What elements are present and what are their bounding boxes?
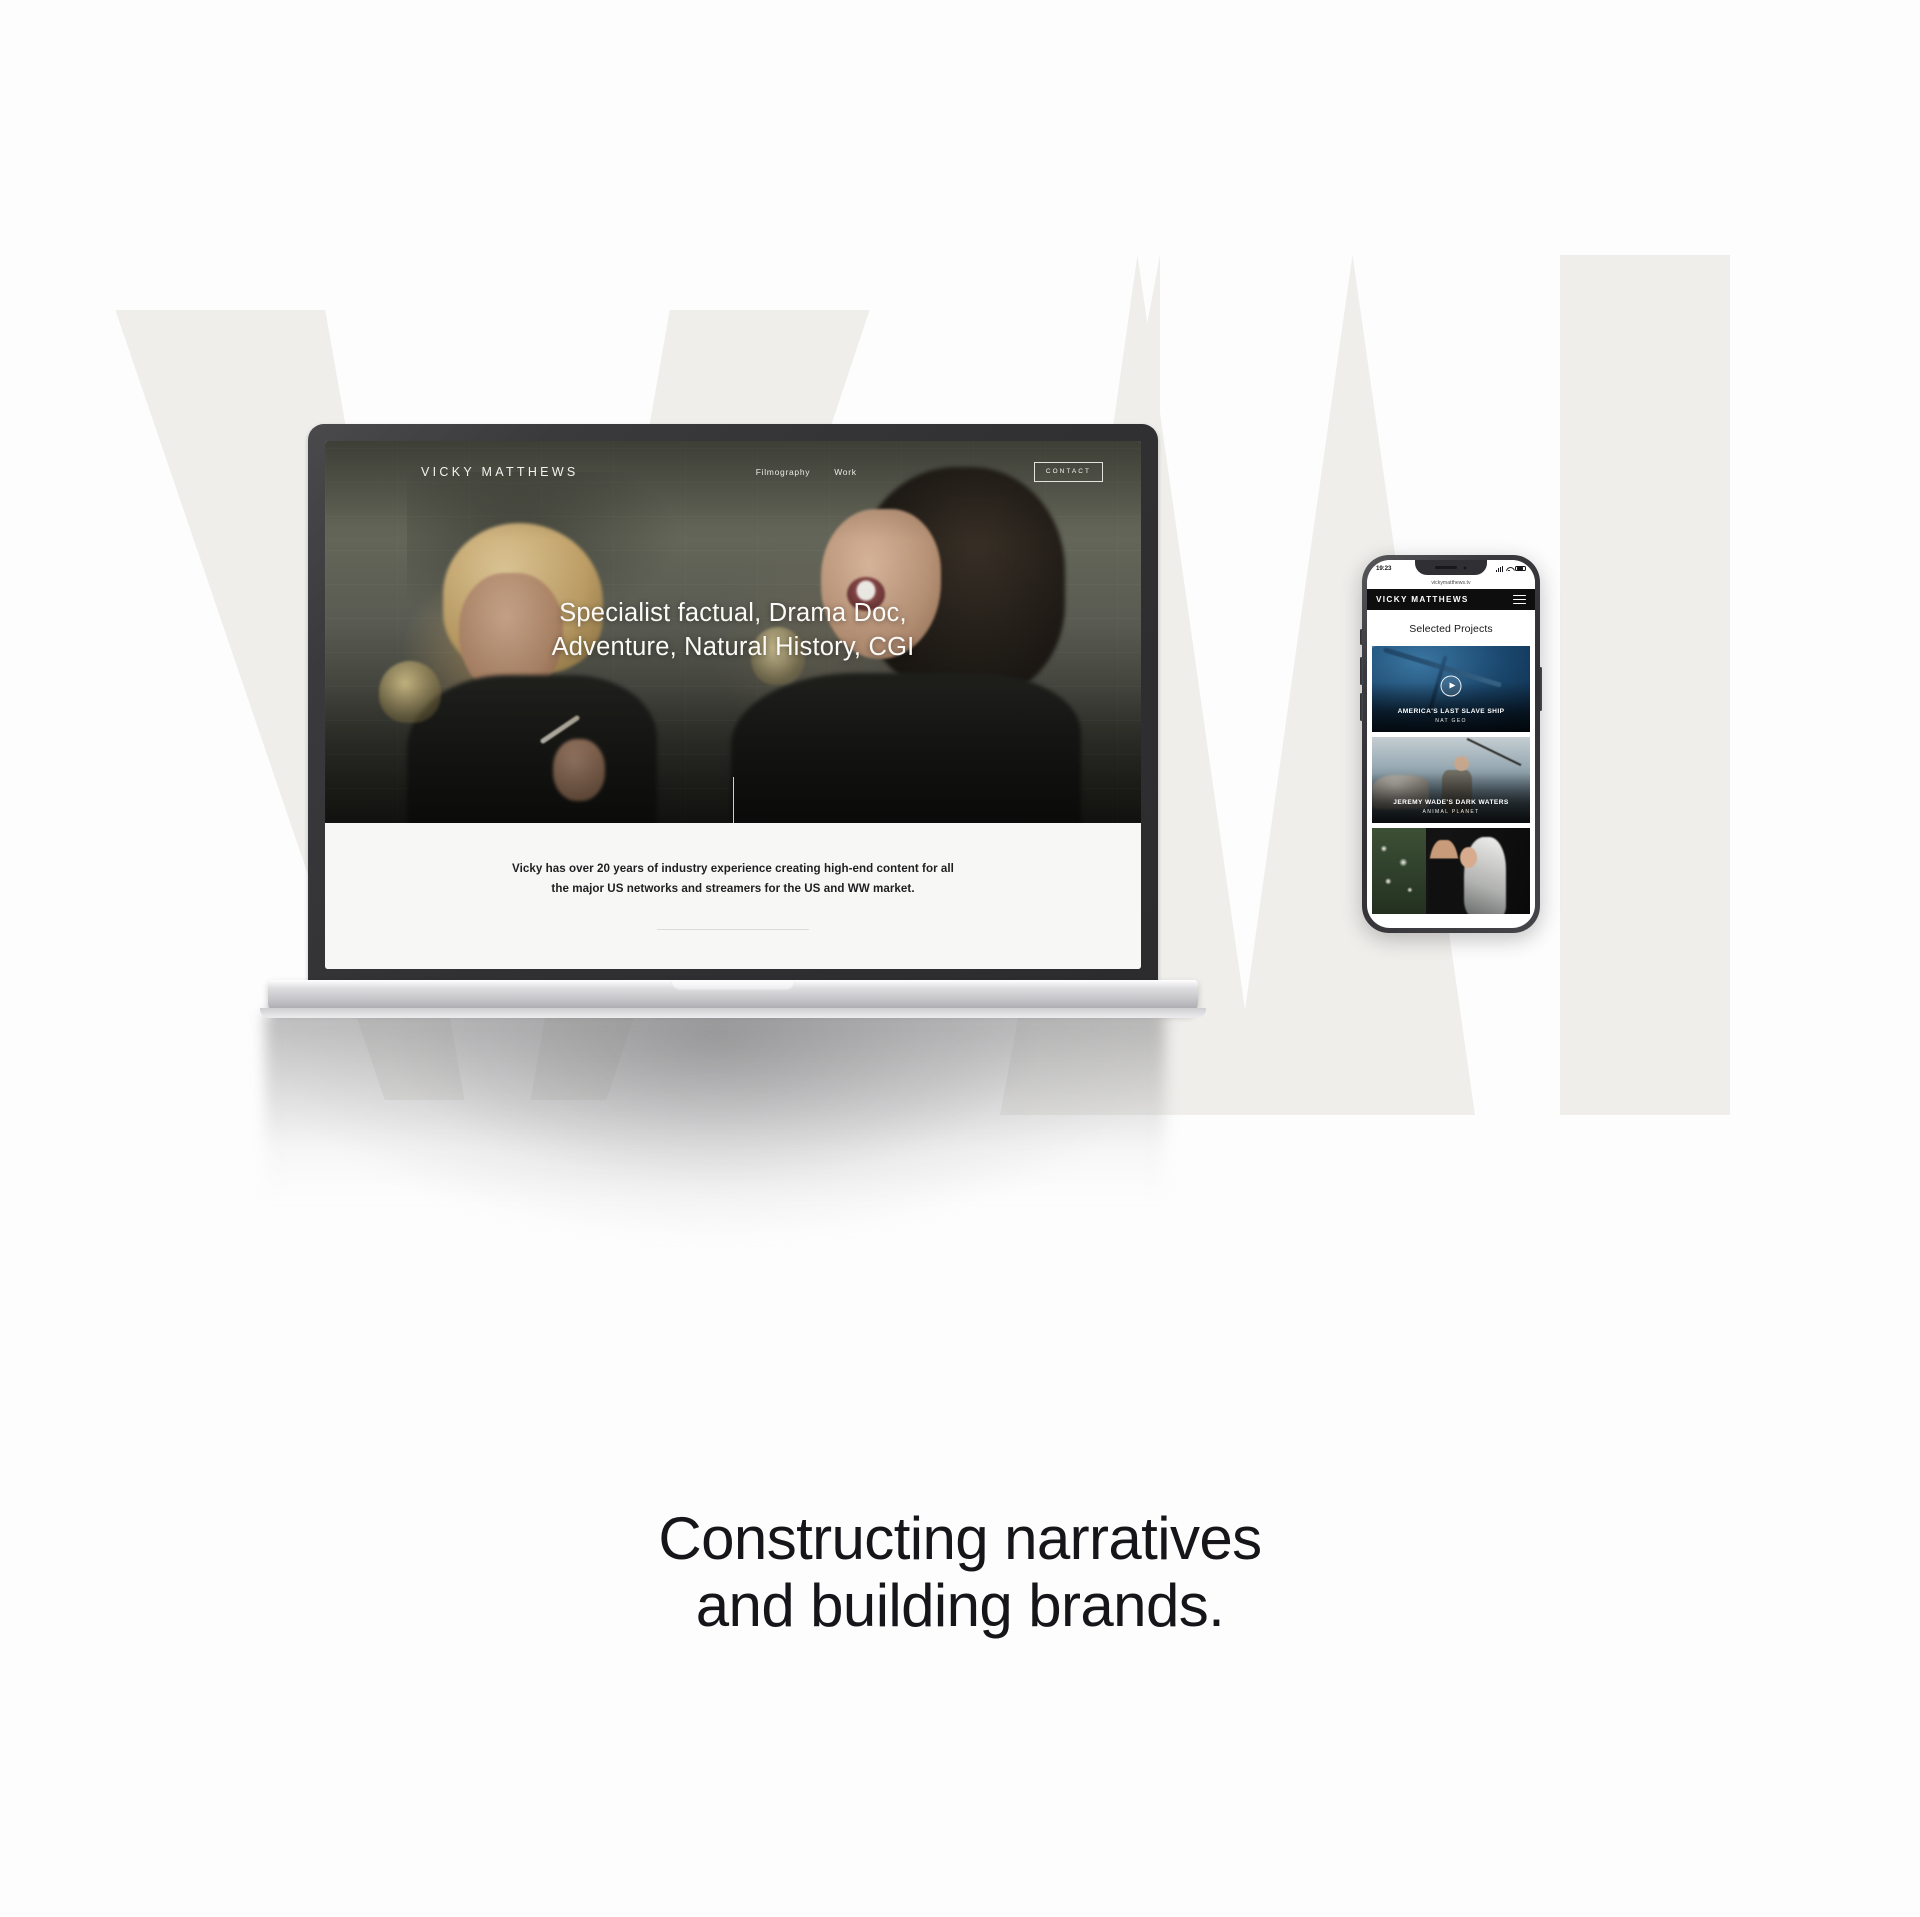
website-viewport: VICKY MATTHEWS Filmography Work CONTACT … (325, 441, 1141, 969)
signal-bars-icon (1496, 566, 1503, 572)
status-icons (1496, 566, 1526, 572)
hamburger-menu-icon[interactable] (1513, 595, 1526, 605)
hero-headline: Specialist factual, Drama Doc, Adventure… (325, 597, 1141, 664)
project-network: NAT GEO (1372, 718, 1530, 724)
project-thumbnail (1372, 828, 1530, 914)
browser-url-bar[interactable]: vickymatthews.tv (1367, 577, 1535, 589)
section-divider (657, 929, 809, 930)
phone-frame: 19:23 vickymatthews.tv VICKY MATTHEWS Se… (1362, 555, 1540, 933)
hero-headline-line-1: Specialist factual, Drama Doc, (325, 597, 1141, 631)
phone-status-bar: 19:23 (1367, 560, 1535, 577)
site-nav: Filmography Work (756, 467, 857, 477)
project-card[interactable]: JEREMY WADE'S DARK WATERS ANIMAL PLANET (1372, 737, 1530, 823)
tagline: Constructing narratives and building bra… (0, 1505, 1920, 1639)
battery-icon (1515, 566, 1526, 572)
floral-arch-detail (1372, 828, 1426, 914)
project-card[interactable]: AMERICA'S LAST SLAVE SHIP NAT GEO (1372, 646, 1530, 732)
project-network: ANIMAL PLANET (1372, 809, 1530, 815)
site-logo[interactable]: VICKY MATTHEWS (421, 465, 579, 479)
laptop-base-front (260, 1008, 1206, 1018)
hero-headline-line-2: Adventure, Natural History, CGI (325, 631, 1141, 665)
laptop-lid-notch (671, 981, 795, 991)
groom-figure (1429, 840, 1459, 912)
phone-mute-switch[interactable] (1360, 629, 1363, 645)
project-card-list: AMERICA'S LAST SLAVE SHIP NAT GEO JEREMY… (1367, 646, 1535, 914)
hero-scroll-indicator (733, 777, 734, 823)
project-card[interactable] (1372, 828, 1530, 914)
laptop-lid: VICKY MATTHEWS Filmography Work CONTACT … (308, 424, 1158, 989)
tagline-line-1: Constructing narratives (0, 1505, 1920, 1572)
about-line-2: the major US networks and streamers for … (325, 879, 1141, 899)
watermark-letter-m-right-stroke (1560, 255, 1730, 1115)
phone-mockup: 19:23 vickymatthews.tv VICKY MATTHEWS Se… (1362, 555, 1540, 933)
laptop-base (268, 980, 1198, 1014)
contact-button[interactable]: CONTACT (1034, 462, 1103, 482)
laptop-mockup: VICKY MATTHEWS Filmography Work CONTACT … (268, 424, 1198, 1044)
phone-notch (1415, 560, 1487, 575)
tagline-line-2: and building brands. (0, 1572, 1920, 1639)
site-header: VICKY MATTHEWS Filmography Work CONTACT (325, 441, 1141, 503)
laptop-display: VICKY MATTHEWS Filmography Work CONTACT … (325, 441, 1141, 969)
selected-projects-heading: Selected Projects (1367, 610, 1535, 646)
mobile-site-logo[interactable]: VICKY MATTHEWS (1376, 595, 1469, 604)
phone-volume-up[interactable] (1360, 657, 1363, 685)
phone-power-button[interactable] (1539, 667, 1542, 711)
earpiece-speaker-icon (1435, 566, 1457, 569)
project-title: AMERICA'S LAST SLAVE SHIP (1372, 708, 1530, 715)
about-section: Vicky has over 20 years of industry expe… (325, 823, 1141, 969)
phone-display: 19:23 vickymatthews.tv VICKY MATTHEWS Se… (1367, 560, 1535, 928)
status-time: 19:23 (1376, 565, 1391, 572)
play-button-icon[interactable] (1441, 675, 1462, 696)
mobile-site-header: VICKY MATTHEWS (1367, 589, 1535, 610)
wifi-icon (1506, 566, 1513, 572)
nav-item-work[interactable]: Work (834, 467, 856, 477)
front-camera-icon (1463, 566, 1467, 570)
nav-item-filmography[interactable]: Filmography (756, 467, 810, 477)
phone-volume-down[interactable] (1360, 693, 1363, 721)
hero-section: VICKY MATTHEWS Filmography Work CONTACT … (325, 441, 1141, 823)
page-canvas: VICKY MATTHEWS Filmography Work CONTACT … (0, 0, 1920, 1917)
project-title: JEREMY WADE'S DARK WATERS (1372, 799, 1530, 806)
about-line-1: Vicky has over 20 years of industry expe… (325, 859, 1141, 879)
